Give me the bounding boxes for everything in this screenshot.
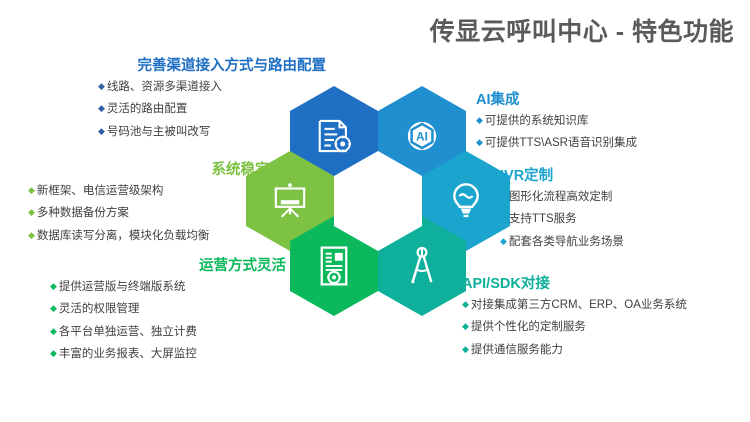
list-item: ◆ 对接集成第三方CRM、ERP、OA业务系统 (462, 299, 750, 311)
feature-list-stability: ◆ 新框架、电信运营级架构 ◆ 多种数据备份方案 ◆ 数据库读写分离，模块化负载… (22, 185, 284, 241)
diamond-bullet-icon: ◆ (500, 214, 507, 223)
diamond-bullet-icon: ◆ (462, 300, 469, 309)
list-item: ◆ 可提供TTS\ASR语音识别集成 (476, 137, 746, 149)
lightbulb-icon (448, 181, 484, 221)
list-item-label: 多种数据备份方案 (37, 207, 129, 219)
feature-block-channel: 完善渠道接入方式与路由配置 ◆ 线路、资源多渠道接入 ◆ 灵活的路由配置 ◆ 号… (36, 58, 326, 148)
list-item-label: 线路、资源多渠道接入 (107, 81, 222, 93)
list-item: ◆ 灵活的路由配置 (98, 103, 326, 115)
list-item-label: 提供通信服务能力 (471, 344, 563, 356)
feature-title-stability: 系统稳定性 (22, 162, 284, 179)
diamond-bullet-icon: ◆ (98, 104, 105, 113)
feature-title-channel: 完善渠道接入方式与路由配置 (36, 58, 326, 75)
feature-title-ai: AI集成 (476, 92, 746, 109)
list-item-label: 可提供的系统知识库 (485, 115, 589, 127)
diamond-bullet-icon: ◆ (462, 345, 469, 354)
feature-list-operation: ◆ 提供运营版与终端版系统 ◆ 灵活的权限管理 ◆ 各平台单独运营、独立计费 ◆… (28, 281, 286, 359)
list-item-label: 支持TTS服务 (509, 213, 577, 225)
diamond-bullet-icon: ◆ (98, 82, 105, 91)
feature-block-api: API/SDK对接 ◆ 对接集成第三方CRM、ERP、OA业务系统 ◆ 提供个性… (462, 276, 750, 366)
feature-list-channel: ◆ 线路、资源多渠道接入 ◆ 灵活的路由配置 ◆ 号码池与主被叫改写 (36, 81, 326, 137)
ai-badge-icon: AI (402, 116, 442, 156)
diamond-bullet-icon: ◆ (28, 208, 35, 217)
compass-divider-icon (405, 245, 439, 287)
feature-title-ivr: IVR定制 (500, 168, 748, 185)
diamond-bullet-icon: ◆ (50, 304, 57, 313)
list-item-label: 提供运营版与终端版系统 (59, 281, 186, 293)
diamond-bullet-icon: ◆ (462, 322, 469, 331)
diamond-bullet-icon: ◆ (50, 282, 57, 291)
list-item: ◆ 图形化流程高效定制 (500, 191, 748, 203)
diamond-bullet-icon: ◆ (50, 349, 57, 358)
feature-list-ivr: ◆ 图形化流程高效定制 ◆ 支持TTS服务 ◆ 配套各类导航业务场景 (500, 191, 748, 247)
diamond-bullet-icon: ◆ (28, 231, 35, 240)
diamond-bullet-icon: ◆ (476, 138, 483, 147)
list-item-label: 对接集成第三方CRM、ERP、OA业务系统 (471, 299, 687, 311)
list-item-label: 配套各类导航业务场景 (509, 236, 624, 248)
list-item-label: 数据库读写分离，模块化负载均衡 (37, 230, 210, 242)
svg-text:AI: AI (416, 131, 428, 144)
feature-block-ai: AI集成 ◆ 可提供的系统知识库 ◆ 可提供TTS\ASR语音识别集成 (476, 92, 746, 160)
diamond-bullet-icon: ◆ (98, 127, 105, 136)
diamond-bullet-icon: ◆ (28, 186, 35, 195)
list-item: ◆ 配套各类导航业务场景 (500, 236, 748, 248)
list-item: ◆ 支持TTS服务 (500, 213, 748, 225)
feature-block-operation: 运营方式灵活 ◆ 提供运营版与终端版系统 ◆ 灵活的权限管理 ◆ 各平台单独运营… (28, 258, 286, 370)
list-item: ◆ 提供个性化的定制服务 (462, 321, 750, 333)
list-item-label: 新框架、电信运营级架构 (37, 185, 164, 197)
list-item: ◆ 提供运营版与终端版系统 (50, 281, 286, 293)
report-gear-icon (316, 245, 352, 287)
list-item: ◆ 可提供的系统知识库 (476, 115, 746, 127)
list-item: ◆ 丰富的业务报表、大屏监控 (50, 348, 286, 360)
diamond-bullet-icon: ◆ (500, 237, 507, 246)
feature-block-stability: 系统稳定性 ◆ 新框架、电信运营级架构 ◆ 多种数据备份方案 ◆ 数据库读写分离… (22, 162, 284, 252)
list-item: ◆ 数据库读写分离，模块化负载均衡 (28, 230, 284, 242)
feature-title-operation: 运营方式灵活 (28, 258, 286, 275)
list-item: ◆ 提供通信服务能力 (462, 344, 750, 356)
list-item-label: 灵活的路由配置 (107, 103, 188, 115)
feature-block-ivr: IVR定制 ◆ 图形化流程高效定制 ◆ 支持TTS服务 ◆ 配套各类导航业务场景 (500, 168, 748, 258)
list-item-label: 号码池与主被叫改写 (107, 126, 211, 138)
list-item-label: 丰富的业务报表、大屏监控 (59, 348, 197, 360)
list-item-label: 图形化流程高效定制 (509, 191, 613, 203)
feature-title-api: API/SDK对接 (462, 276, 750, 293)
diamond-bullet-icon: ◆ (500, 192, 507, 201)
list-item-label: 提供个性化的定制服务 (471, 321, 586, 333)
list-item: ◆ 各平台单独运营、独立计费 (50, 326, 286, 338)
diamond-bullet-icon: ◆ (476, 116, 483, 125)
list-item: ◆ 新框架、电信运营级架构 (28, 185, 284, 197)
list-item: ◆ 灵活的权限管理 (50, 303, 286, 315)
list-item: ◆ 线路、资源多渠道接入 (98, 81, 326, 93)
list-item-label: 各平台单独运营、独立计费 (59, 326, 197, 338)
page-title: 传显云呼叫中心 - 特色功能 (430, 12, 734, 48)
feature-list-api: ◆ 对接集成第三方CRM、ERP、OA业务系统 ◆ 提供个性化的定制服务 ◆ 提… (462, 299, 750, 355)
list-item: ◆ 号码池与主被叫改写 (98, 126, 326, 138)
list-item-label: 灵活的权限管理 (59, 303, 140, 315)
list-item: ◆ 多种数据备份方案 (28, 207, 284, 219)
list-item-label: 可提供TTS\ASR语音识别集成 (485, 137, 637, 149)
diamond-bullet-icon: ◆ (50, 327, 57, 336)
feature-list-ai: ◆ 可提供的系统知识库 ◆ 可提供TTS\ASR语音识别集成 (476, 115, 746, 149)
